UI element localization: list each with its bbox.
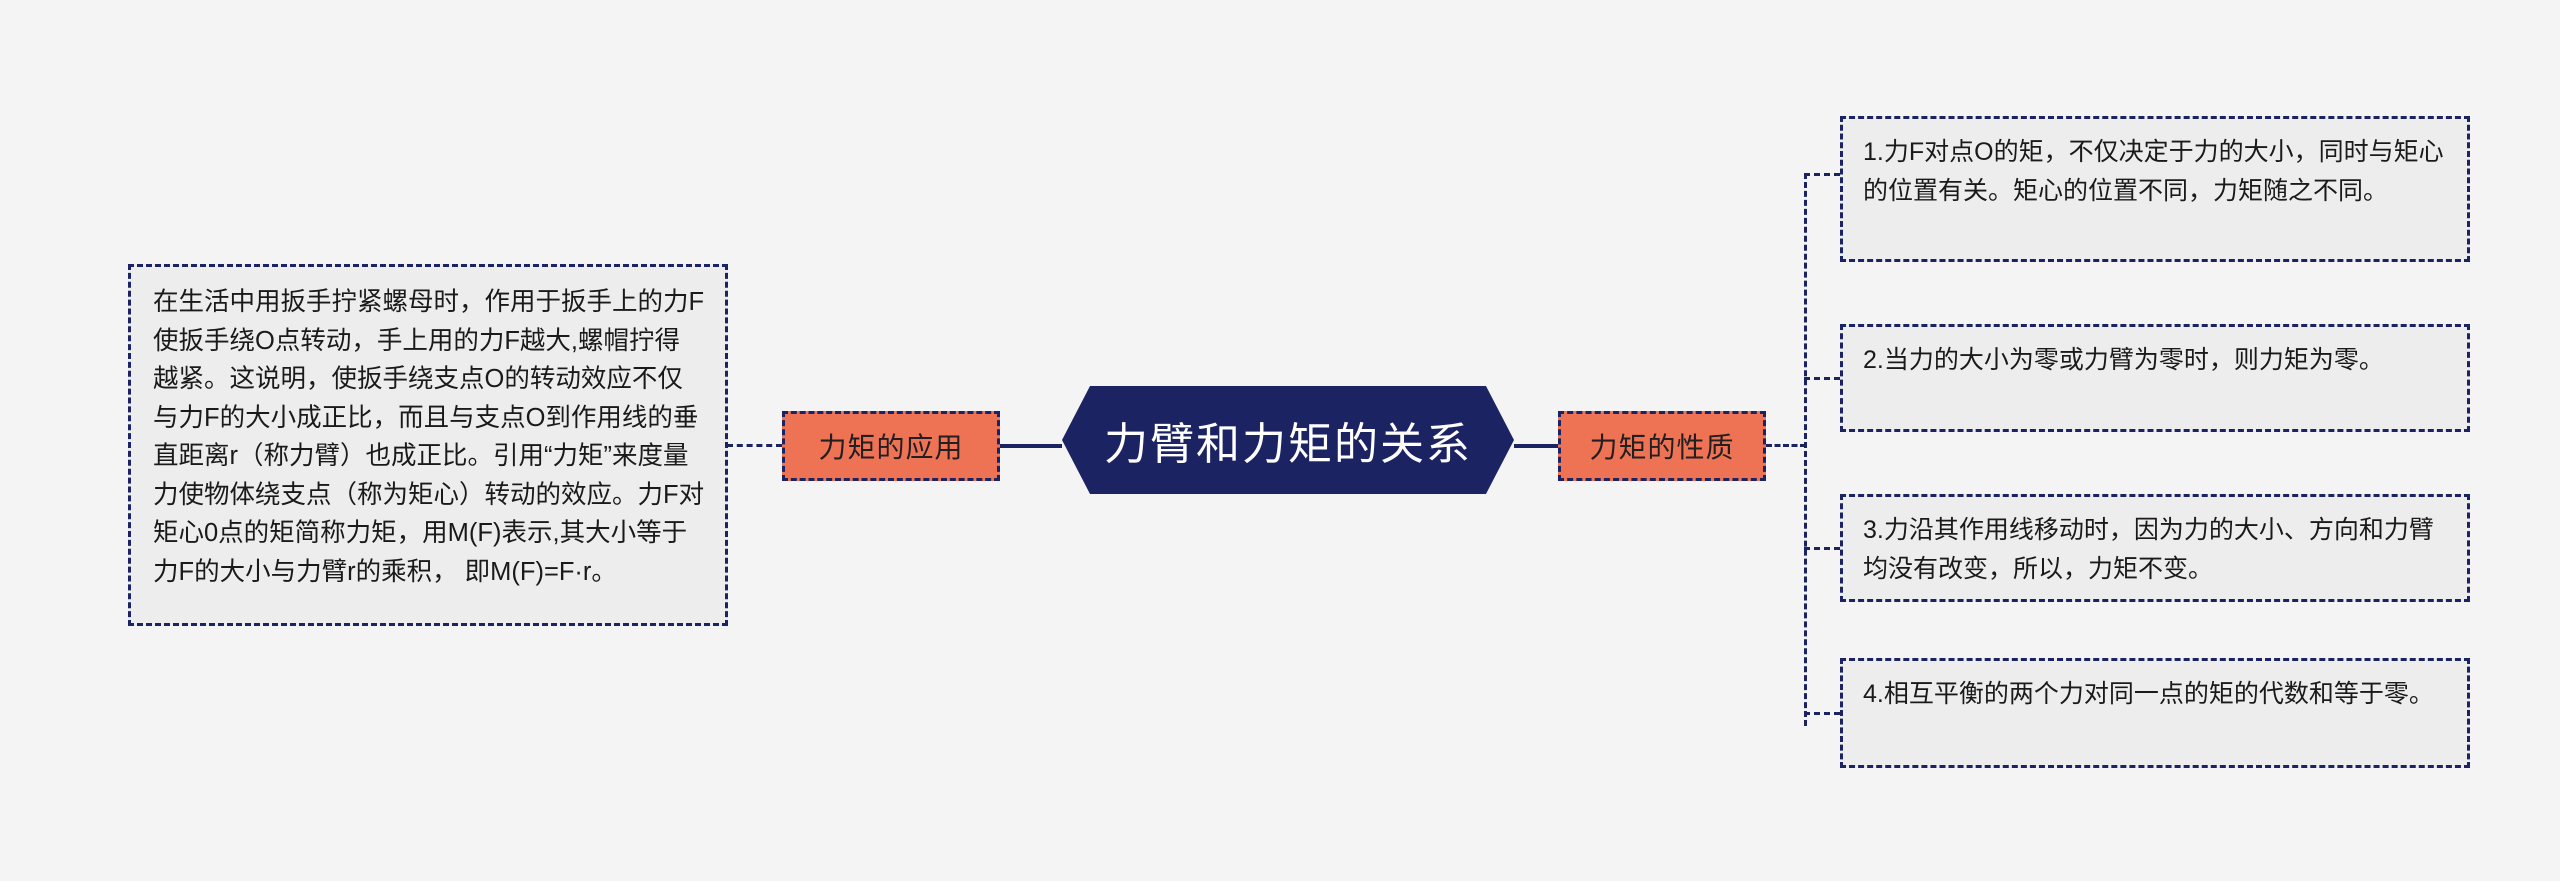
leaf-text-2: 2.当力的大小为零或力臂为零时，则力矩为零。 — [1863, 341, 2449, 380]
connector-hub-left — [1000, 444, 1062, 448]
branch-node-left[interactable]: 力矩的应用 — [782, 411, 1000, 481]
branch-node-right-label: 力矩的性质 — [1589, 426, 1734, 466]
connector-leaf-2 — [1804, 377, 1840, 380]
branch-node-left-label: 力矩的应用 — [818, 426, 963, 466]
leaf-block-1: 1.力F对点O的矩，不仅决定于力的大小，同时与矩心的位置有关。矩心的位置不同，力… — [1840, 116, 2470, 262]
leaf-text-4: 4.相互平衡的两个力对同一点的矩的代数和等于零。 — [1863, 675, 2449, 714]
connector-left-detail — [727, 444, 782, 447]
connector-hub-right — [1514, 444, 1558, 448]
connector-right-spine-entry — [1766, 444, 1806, 447]
connector-right-spine — [1804, 173, 1807, 726]
center-node[interactable]: 力臂和力矩的关系 — [1062, 386, 1514, 494]
mindmap-canvas: 在生活中用扳手拧紧螺母时，作用于扳手上的力F使扳手绕O点转动，手上用的力F越大,… — [0, 0, 2560, 881]
left-detail-text: 在生活中用扳手拧紧螺母时，作用于扳手上的力F使扳手绕O点转动，手上用的力F越大,… — [153, 283, 705, 591]
connector-leaf-4 — [1804, 712, 1840, 715]
leaf-block-2: 2.当力的大小为零或力臂为零时，则力矩为零。 — [1840, 324, 2470, 432]
connector-leaf-3 — [1804, 547, 1840, 550]
leaf-block-3: 3.力沿其作用线移动时，因为力的大小、方向和力臂均没有改变，所以，力矩不变。 — [1840, 494, 2470, 602]
leaf-text-3: 3.力沿其作用线移动时，因为力的大小、方向和力臂均没有改变，所以，力矩不变。 — [1863, 511, 2449, 589]
connector-leaf-1 — [1804, 173, 1840, 176]
center-node-title: 力臂和力矩的关系 — [1104, 408, 1472, 472]
leaf-text-1: 1.力F对点O的矩，不仅决定于力的大小，同时与矩心的位置有关。矩心的位置不同，力… — [1863, 133, 2449, 211]
leaf-block-4: 4.相互平衡的两个力对同一点的矩的代数和等于零。 — [1840, 658, 2470, 768]
branch-node-right[interactable]: 力矩的性质 — [1558, 411, 1766, 481]
left-detail-block: 在生活中用扳手拧紧螺母时，作用于扳手上的力F使扳手绕O点转动，手上用的力F越大,… — [128, 264, 728, 626]
